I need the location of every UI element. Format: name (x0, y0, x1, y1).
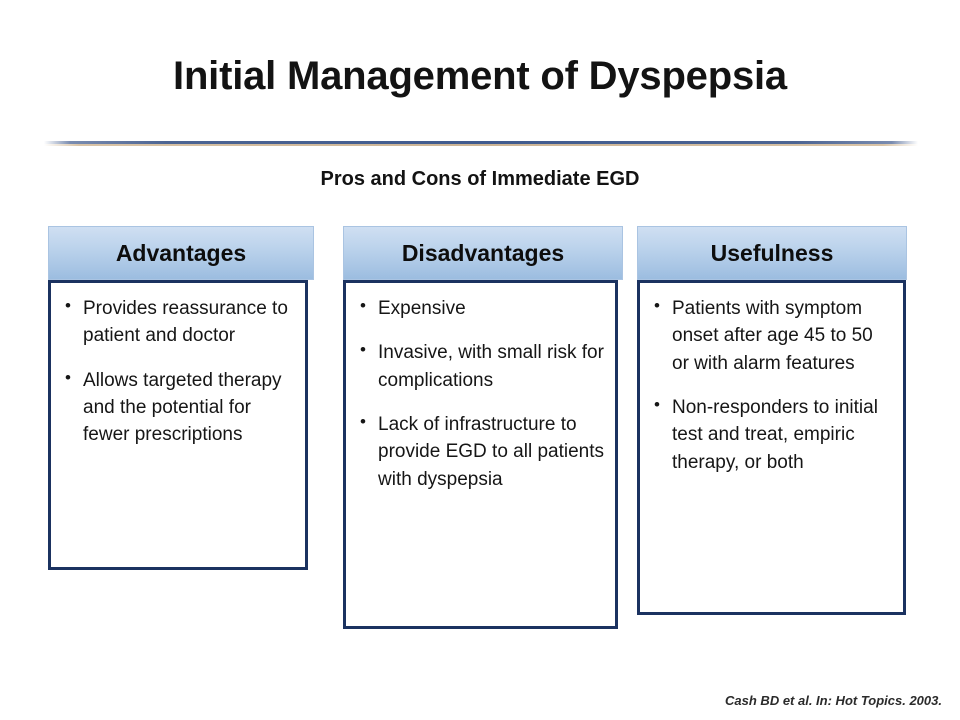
column-header-label: Disadvantages (402, 242, 564, 265)
list-item: Lack of infrastructure to provide EGD to… (356, 411, 605, 493)
bullet-list-advantages: Provides reassurance to patient and doct… (61, 295, 295, 449)
slide-subtitle: Pros and Cons of Immediate EGD (0, 168, 960, 191)
list-item: Patients with symptom onset after age 45… (650, 295, 893, 377)
slide-title: Initial Management of Dyspepsia (0, 54, 960, 98)
column-header-disadvantages: Disadvantages (343, 226, 623, 280)
divider-tan-line (44, 144, 918, 146)
list-item: Allows targeted therapy and the potentia… (61, 367, 295, 449)
bullet-list-usefulness: Patients with symptom onset after age 45… (650, 295, 893, 476)
column-body-advantages: Provides reassurance to patient and doct… (48, 280, 308, 570)
source-citation: Cash BD et al. In: Hot Topics. 2003. (725, 693, 942, 708)
list-item: Non-responders to initial test and treat… (650, 394, 893, 476)
column-header-advantages: Advantages (48, 226, 314, 280)
title-divider (44, 138, 918, 147)
column-header-label: Advantages (116, 242, 246, 265)
column-header-label: Usefulness (711, 242, 834, 265)
column-header-usefulness: Usefulness (637, 226, 907, 280)
bullet-list-disadvantages: Expensive Invasive, with small risk for … (356, 295, 605, 493)
slide-canvas: Initial Management of Dyspepsia Pros and… (0, 0, 960, 720)
list-item: Provides reassurance to patient and doct… (61, 295, 295, 350)
column-body-disadvantages: Expensive Invasive, with small risk for … (343, 280, 618, 629)
list-item: Invasive, with small risk for complicati… (356, 339, 605, 394)
column-body-usefulness: Patients with symptom onset after age 45… (637, 280, 906, 615)
list-item: Expensive (356, 295, 605, 322)
